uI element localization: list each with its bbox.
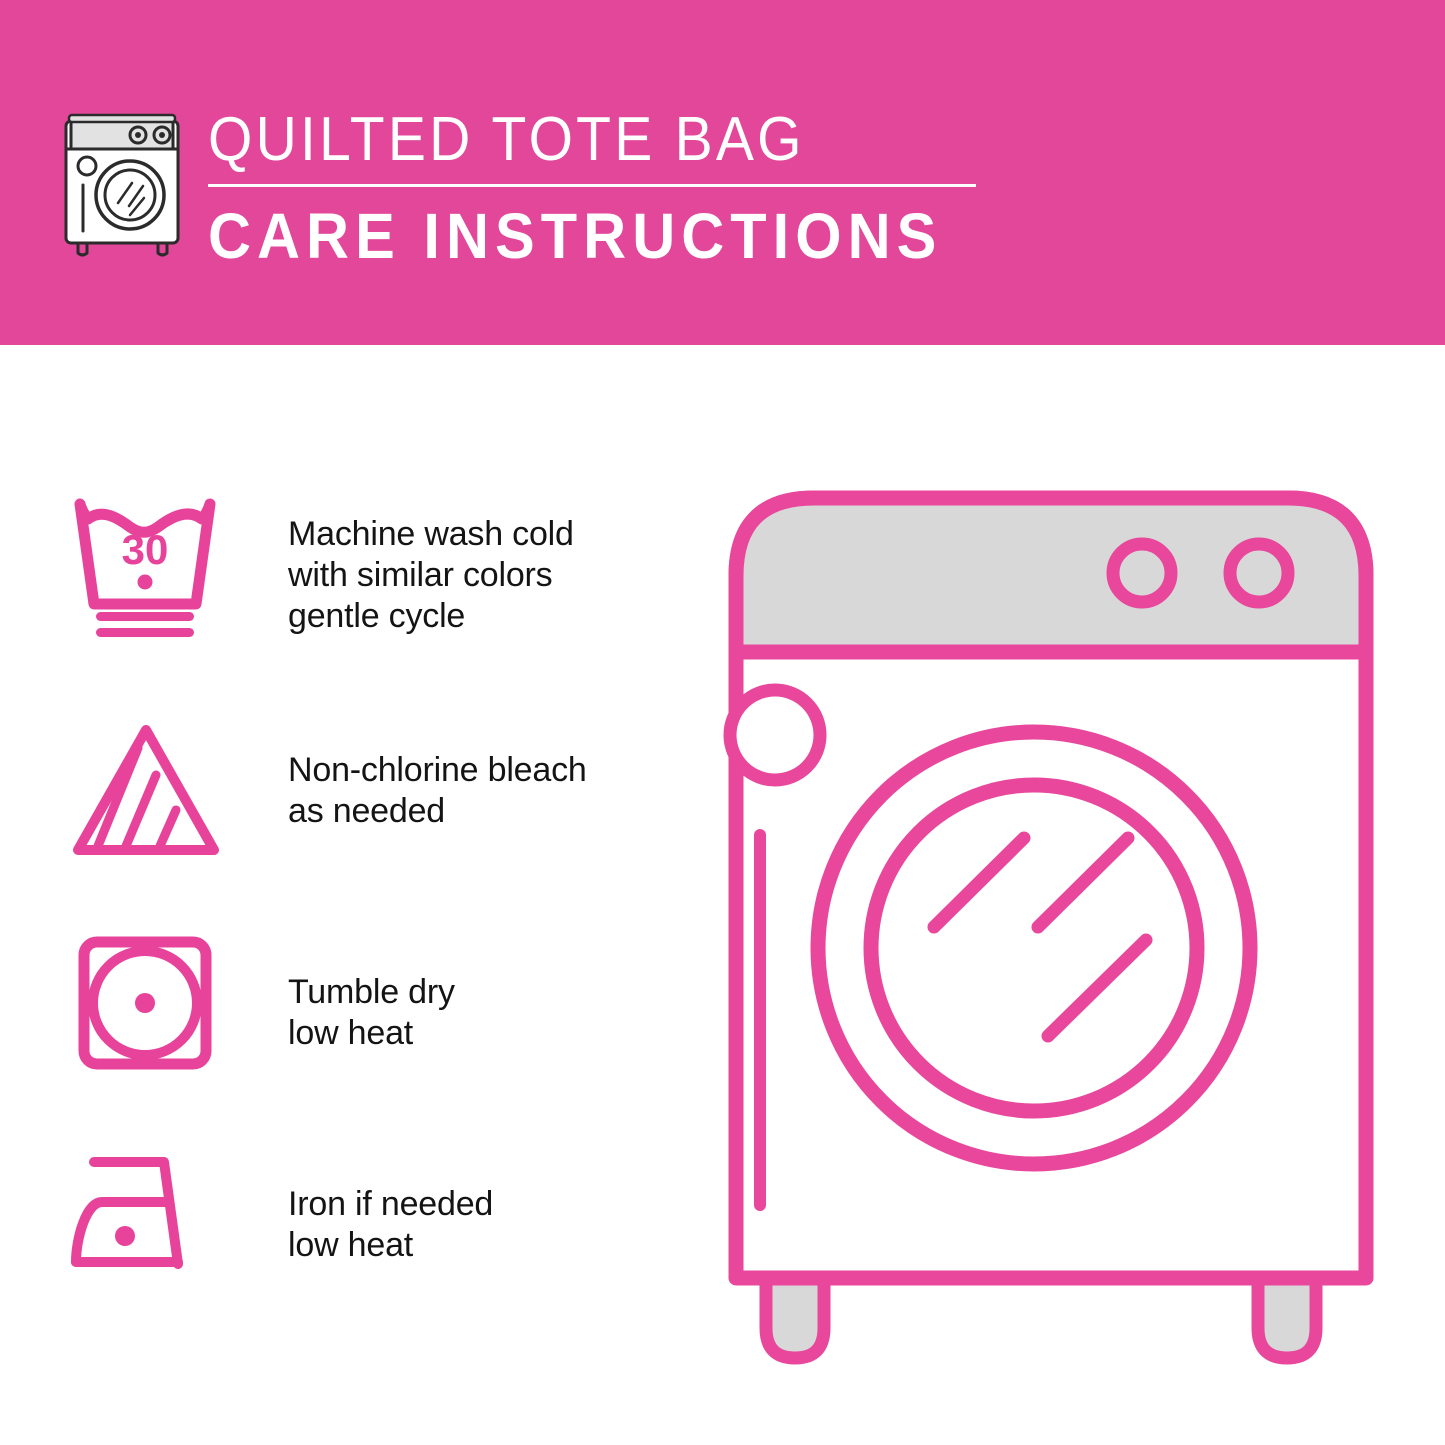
header-divider (208, 184, 976, 187)
iron-low-heat-icon (68, 1144, 236, 1299)
header-text-block: QUILTED TOTE BAG CARE INSTRUCTIONS (208, 104, 998, 271)
control-knob-left (1113, 544, 1171, 602)
care-row: Iron if needed low heat (60, 1122, 700, 1332)
care-row: Tumble dry low heat (60, 912, 700, 1122)
wash-temperature-label: 30 (122, 526, 169, 573)
control-knob-right (1230, 544, 1288, 602)
machine-wash-tub-icon: 30 (68, 492, 236, 647)
door-inner-ring (871, 785, 1197, 1111)
care-text: Machine wash cold with similar colors ge… (288, 514, 574, 637)
care-text: Non-chlorine bleach as needed (288, 750, 587, 832)
page-title: QUILTED TOTE BAG (208, 104, 935, 176)
washing-machine-icon (58, 103, 190, 255)
care-row: Non-chlorine bleach as needed (60, 702, 700, 912)
non-chlorine-bleach-triangle-icon (68, 718, 236, 873)
detergent-indicator (730, 690, 820, 780)
page-header: QUILTED TOTE BAG CARE INSTRUCTIONS (0, 0, 1445, 345)
care-row: 30 Machine wash cold with similar colors… (60, 492, 700, 702)
care-text: Iron if needed low heat (288, 1184, 493, 1266)
care-instruction-list: 30 Machine wash cold with similar colors… (60, 492, 700, 1332)
page-subtitle: CARE INSTRUCTIONS (208, 201, 943, 271)
front-load-washing-machine-illustration (718, 480, 1408, 1370)
care-instructions-page: QUILTED TOTE BAG CARE INSTRUCTIONS 30 (0, 0, 1445, 1445)
care-text: Tumble dry low heat (288, 972, 455, 1054)
tumble-dry-low-icon (68, 930, 236, 1085)
